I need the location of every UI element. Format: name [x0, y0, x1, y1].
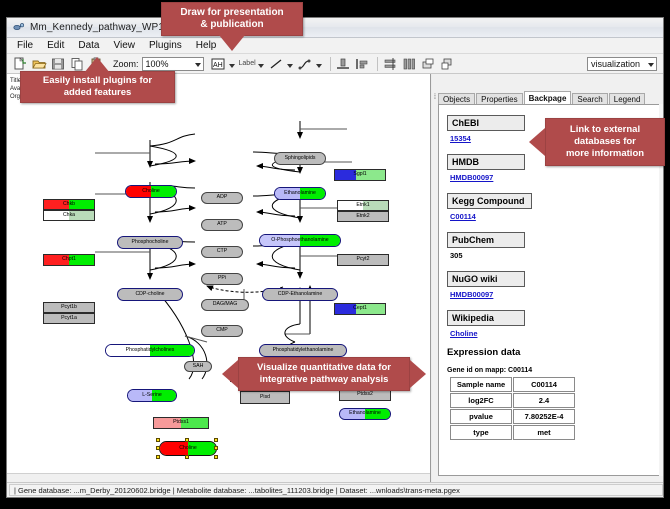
node-label: Sgpl1 [353, 172, 366, 177]
node-atp[interactable]: ATP [201, 219, 243, 231]
cell-value: C00114 [513, 377, 575, 392]
callout-link-arrow-icon [529, 128, 545, 156]
node-ppi[interactable]: PPi [201, 273, 243, 285]
selection-handle[interactable] [156, 455, 160, 459]
menu-file[interactable]: File [15, 39, 35, 52]
section-header-hmdb: HMDB [447, 154, 525, 170]
chevron-down-icon [648, 63, 654, 67]
selection-handle[interactable] [156, 446, 160, 450]
node-label: Phosphatidylcholines [126, 348, 175, 353]
cell-value: 7.80252E-4 [513, 409, 575, 424]
node-sah[interactable]: SAH [184, 361, 212, 372]
gene-id-on-mapp: Gene id on mapp: C00114 [447, 367, 659, 374]
node-label: Ethanolamine [284, 191, 316, 196]
text-label-dropdown-icon[interactable] [229, 64, 235, 68]
node-label: Chka [63, 213, 75, 218]
callout-line-1: Visualize quantitative data for [257, 362, 391, 374]
open-folder-icon[interactable] [31, 56, 47, 72]
line-dropdown-icon[interactable] [287, 64, 293, 68]
gene-cept1[interactable]: Cept1 [334, 303, 386, 315]
node-label: Chkb [63, 202, 75, 207]
gene-chkb[interactable]: Chkb [43, 199, 95, 210]
node-label: Phosphatidylethanolamine [273, 348, 334, 353]
svg-text:AH: AH [213, 62, 223, 69]
cell-value: 2.4 [513, 393, 575, 408]
visualization-combo[interactable]: visualization [587, 57, 657, 71]
toolbar-separator-2 [377, 57, 378, 71]
gene-chka[interactable]: Chka [43, 210, 95, 221]
sidebar-tab-strip: Objects Properties Backpage Search Legen… [438, 91, 664, 105]
gene-pcyt1b[interactable]: Pcyt1b [43, 302, 95, 313]
title-bar: Mm_Kennedy_pathway_WP1771_45176.gpml [7, 18, 664, 38]
line-icon[interactable] [268, 56, 284, 72]
menu-data[interactable]: Data [76, 39, 101, 52]
node-sphingolipids[interactable]: Sphingolipids [274, 152, 326, 165]
section-header-kegg: Kegg Compound [447, 193, 532, 209]
status-bar: | Gene database: ...m_Derby_20120602.bri… [7, 482, 664, 497]
align-bottom-icon[interactable] [335, 56, 351, 72]
menu-bar: File Edit Data View Plugins Help [7, 38, 664, 54]
node-label: ADP [217, 195, 228, 200]
save-icon[interactable] [50, 56, 66, 72]
callout-visualize-data: Visualize quantitative data for integrat… [238, 357, 410, 391]
selection-handle[interactable] [214, 446, 218, 450]
node-label: SAH [193, 364, 204, 369]
selection-handle[interactable] [185, 455, 189, 459]
text-label-icon[interactable]: AH [210, 56, 226, 72]
pathvisio-icon [13, 22, 25, 34]
callout-line-2: databases for [574, 136, 636, 148]
node-phosphatidylcholines[interactable]: Phosphatidylcholines [105, 344, 195, 357]
node-cmp[interactable]: CMP [201, 325, 243, 337]
table-row: log2FC 2.4 [450, 393, 575, 408]
expression-data-title: Expression data [447, 347, 659, 358]
section-header-pubchem: PubChem [447, 232, 525, 248]
callout-link-databases: Link to external databases for more info… [545, 118, 665, 166]
distribute-vertical-icon[interactable] [382, 56, 398, 72]
gene-pcyt1a[interactable]: Pcyt1a [43, 313, 95, 324]
visualization-value: visualization [591, 59, 640, 69]
node-label: Etnk1 [356, 203, 369, 208]
node-label: Pisd [260, 395, 270, 400]
cell-key: Sample name [450, 377, 512, 392]
tab-backpage[interactable]: Backpage [524, 91, 572, 105]
gene-sgpl1[interactable]: Sgpl1 [334, 169, 386, 181]
callout-line-1: Link to external [570, 124, 640, 136]
distribute-horizontal-icon[interactable] [401, 56, 417, 72]
node-label: DAG/MAG [213, 302, 238, 307]
node-cdp-ethanolamine[interactable]: CDP-Ethanolamine [262, 288, 338, 301]
node-label: Etnk2 [356, 214, 369, 219]
section-header-chebi: ChEBI [447, 115, 525, 131]
node-label: Ptdss1 [173, 420, 189, 425]
gene-chpt1[interactable]: Chpt1 [43, 254, 95, 266]
node-phosphatidylethanolamine[interactable]: Phosphatidylethanolamine [259, 344, 347, 357]
selection-handle[interactable] [185, 438, 189, 442]
gene-ptdss1[interactable]: Ptdss1 [153, 417, 209, 429]
node-label: PPi [218, 276, 226, 281]
node-cdp-choline[interactable]: CDP-choline [117, 288, 183, 301]
node-ethanolamine-bottom[interactable]: Ethanolamine [339, 408, 391, 420]
gene-pisd[interactable]: Pisd [240, 391, 290, 404]
node-label: Ptdss2 [357, 392, 373, 397]
node-ethanolamine-top[interactable]: Ethanolamine [274, 187, 326, 200]
node-label: Cept1 [353, 306, 367, 311]
callout-viz-right-arrow-icon [410, 360, 426, 388]
node-label: L-Serine [142, 393, 162, 398]
node-o-phosphoethanolamine[interactable]: O-Phosphoethanolamine [259, 234, 341, 247]
menu-plugins[interactable]: Plugins [147, 39, 184, 52]
link-nugo-wiki[interactable]: HMDB00097 [450, 290, 659, 299]
chevron-down-icon [195, 63, 201, 67]
node-label: Ethanolamine [349, 411, 381, 416]
node-choline-top[interactable]: Choline [125, 185, 177, 198]
label-dropdown-icon[interactable] [258, 64, 264, 68]
table-row: type met [450, 425, 575, 440]
callout-line-2: & publication [200, 19, 263, 31]
zoom-label: Zoom: [113, 59, 139, 69]
copy-icon[interactable] [69, 56, 85, 72]
node-dag-mag[interactable]: DAG/MAG [201, 299, 249, 311]
label-tool-label: Label [239, 60, 256, 67]
value-pubchem: 305 [450, 251, 659, 260]
link-kegg[interactable]: C00114 [450, 212, 659, 221]
table-row: pvalue 7.80252E-4 [450, 409, 575, 424]
cell-value: met [513, 425, 575, 440]
callout-plugins-arrow-icon [84, 57, 110, 73]
cell-key: type [450, 425, 512, 440]
status-bar-text: | Gene database: ...m_Derby_20120602.bri… [9, 484, 663, 496]
callout-line-2: added features [64, 87, 132, 99]
connector-dropdown-icon[interactable] [316, 64, 322, 68]
callout-draw-arrow-icon [219, 35, 245, 51]
expression-data-table: Sample name C00114 log2FC 2.4 pvalue 7.8… [449, 376, 576, 441]
selection-handle[interactable] [156, 438, 160, 442]
node-label: CTP [217, 249, 227, 254]
node-adp[interactable]: ADP [201, 192, 243, 204]
zoom-value: 100% [146, 59, 169, 69]
link-hmdb[interactable]: HMDB00097 [450, 173, 659, 182]
node-label: Choline [179, 446, 197, 451]
node-label: CDP-choline [135, 292, 164, 297]
cell-key: pvalue [450, 409, 512, 424]
send-to-back-icon[interactable] [439, 56, 455, 72]
callout-install-plugins: Easily install plugins for added feature… [20, 71, 175, 103]
node-label: Pcyt1a [61, 316, 77, 321]
node-label: O-Phosphoethanolamine [271, 238, 328, 243]
node-phosphocholine[interactable]: Phosphocholine [117, 236, 183, 249]
node-l-serine-left[interactable]: L-Serine [127, 389, 177, 402]
align-left-icon[interactable] [354, 56, 370, 72]
callout-line-1: Draw for presentation [180, 7, 283, 19]
node-label: Chpt1 [62, 257, 76, 262]
table-row: Sample name C00114 [450, 377, 575, 392]
menu-help[interactable]: Help [194, 39, 219, 52]
section-header-nugo-wiki: NuGO wiki [447, 271, 525, 287]
gene-etnk1[interactable]: Etnk1 [337, 200, 389, 211]
cell-key: log2FC [450, 393, 512, 408]
selection-handle[interactable] [214, 455, 218, 459]
selection-handle[interactable] [214, 438, 218, 442]
callout-line-3: more information [566, 148, 644, 160]
node-label: Sphingolipids [285, 156, 316, 161]
connector-icon[interactable] [297, 56, 313, 72]
node-label: Choline [142, 189, 160, 194]
node-ctp[interactable]: CTP [201, 246, 243, 258]
gene-etnk2[interactable]: Etnk2 [337, 211, 389, 222]
toolbar-separator-1 [330, 57, 331, 71]
node-label: Pcyt2 [357, 257, 370, 262]
node-choline-selected[interactable]: Choline [159, 441, 217, 456]
bring-to-front-icon[interactable] [420, 56, 436, 72]
callout-line-2: integrative pathway analysis [260, 374, 389, 386]
gene-pcyt2[interactable]: Pcyt2 [337, 254, 389, 266]
zoom-combo[interactable]: 100% [142, 57, 204, 71]
section-header-wikipedia: Wikipedia [447, 310, 525, 326]
node-label: Phosphocholine [132, 240, 169, 245]
callout-draw-for-publication: Draw for presentation & publication [161, 2, 303, 36]
node-label: CDP-Ethanolamine [278, 292, 322, 297]
callout-viz-left-arrow-icon [222, 360, 238, 388]
new-file-icon[interactable] [12, 56, 28, 72]
node-label: ATP [217, 222, 227, 227]
menu-edit[interactable]: Edit [45, 39, 66, 52]
link-wikipedia[interactable]: Choline [450, 329, 659, 338]
pathway-canvas[interactable]: Title: Availa Organi [7, 74, 431, 484]
menu-view[interactable]: View [111, 39, 137, 52]
node-label: CMP [216, 328, 228, 333]
node-label: Pcyt1b [61, 305, 77, 310]
callout-line-1: Easily install plugins for [43, 75, 152, 87]
